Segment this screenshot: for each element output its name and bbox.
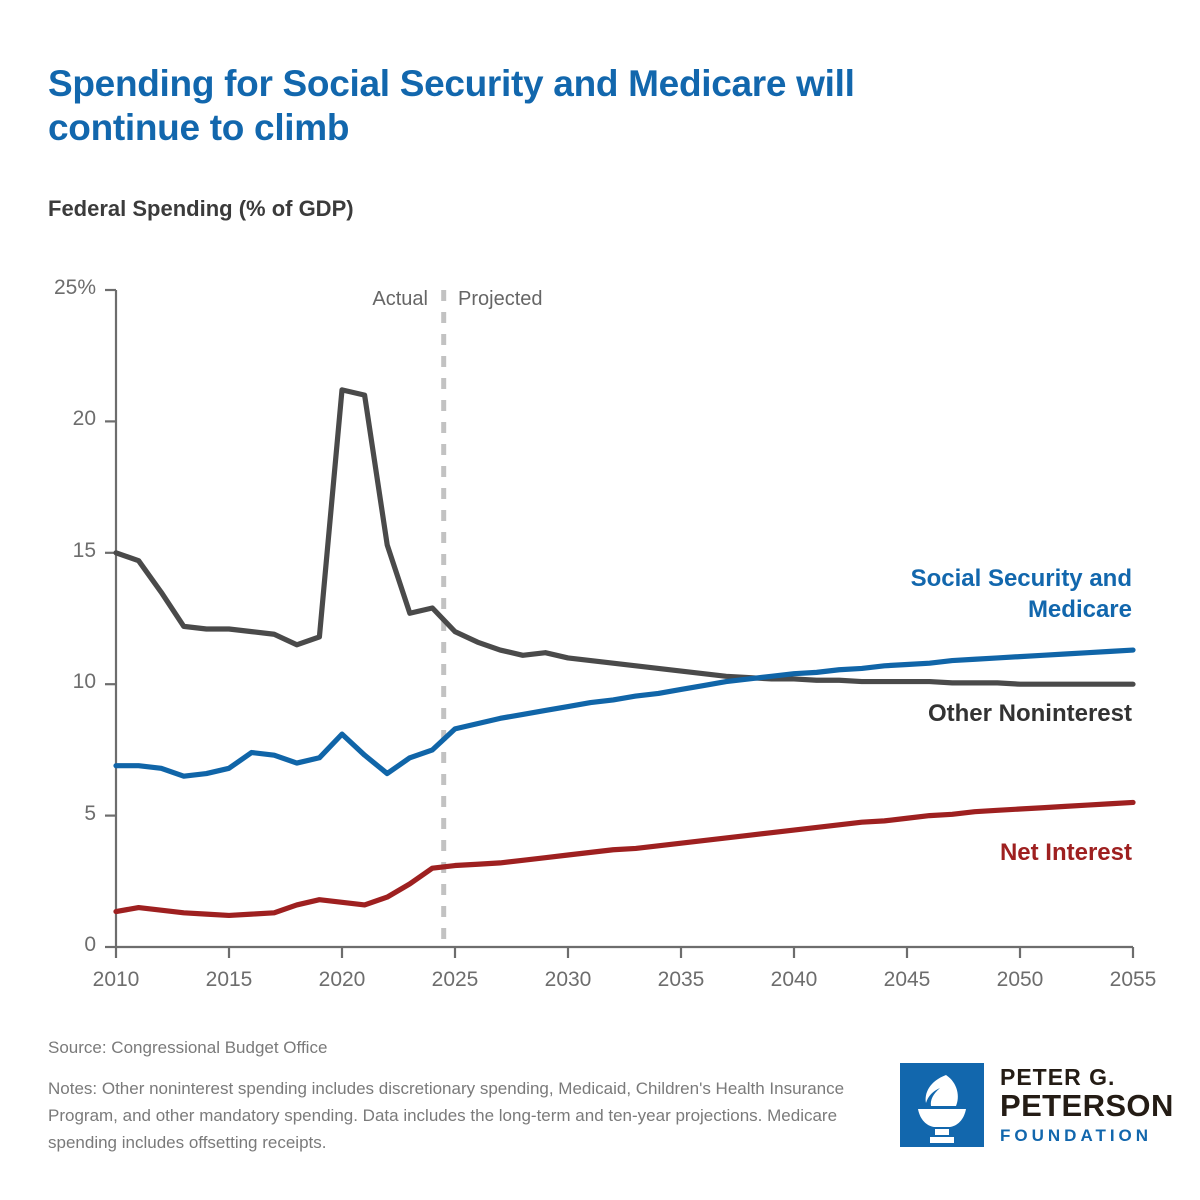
- x-axis-tick-label: 2030: [513, 968, 623, 992]
- data-series-group: [116, 390, 1133, 916]
- x-axis-tick-label: 2040: [739, 968, 849, 992]
- chart-page: Spending for Social Security and Medicar…: [0, 0, 1200, 1200]
- x-axis-tick-label: 2015: [174, 968, 284, 992]
- torch-glyph: [900, 1063, 984, 1147]
- x-axis-tick-label: 2050: [965, 968, 1075, 992]
- y-axis-ticks: [105, 290, 116, 947]
- chart-subtitle: Federal Spending (% of GDP): [48, 196, 354, 222]
- projected-period-label: Projected: [458, 288, 638, 311]
- x-axis-tick-label: 2055: [1078, 968, 1188, 992]
- y-axis-tick-label: 25%: [26, 276, 96, 300]
- logo-text-peterson: PETERSON: [1000, 1090, 1174, 1123]
- page-title: Spending for Social Security and Medicar…: [48, 62, 1008, 149]
- x-axis-tick-label: 2010: [61, 968, 171, 992]
- series-label-other-noninterest: Other Noninterest: [712, 700, 1132, 728]
- series-label-net-interest: Net Interest: [812, 839, 1132, 867]
- y-axis-tick-label: 0: [26, 933, 96, 957]
- logo-text-foundation: FOUNDATION: [1000, 1125, 1174, 1148]
- logo-wordmark: PETER G. PETERSON FOUNDATION: [1000, 1063, 1174, 1148]
- peterson-foundation-logo: PETER G. PETERSON FOUNDATION: [900, 1063, 1165, 1155]
- x-axis-tick-label: 2035: [626, 968, 736, 992]
- logo-text-peter-g: PETER G.: [1000, 1065, 1174, 1090]
- y-axis-tick-label: 20: [26, 407, 96, 431]
- actual-period-label: Actual: [283, 288, 428, 311]
- x-axis-tick-label: 2025: [400, 968, 510, 992]
- y-axis-tick-label: 5: [26, 802, 96, 826]
- source-note: Source: Congressional Budget Office: [48, 1038, 327, 1058]
- y-axis-tick-label: 10: [26, 670, 96, 694]
- torch-icon: [900, 1063, 984, 1147]
- series-label-social-security-medicare: Social Security and Medicare: [832, 563, 1132, 625]
- series-line-other-noninterest: [116, 390, 1133, 684]
- x-axis-tick-label: 2045: [852, 968, 962, 992]
- x-axis-tick-label: 2020: [287, 968, 397, 992]
- y-axis-tick-label: 15: [26, 539, 96, 563]
- footnotes: Notes: Other noninterest spending includ…: [48, 1076, 858, 1157]
- x-axis-ticks: [116, 947, 1133, 958]
